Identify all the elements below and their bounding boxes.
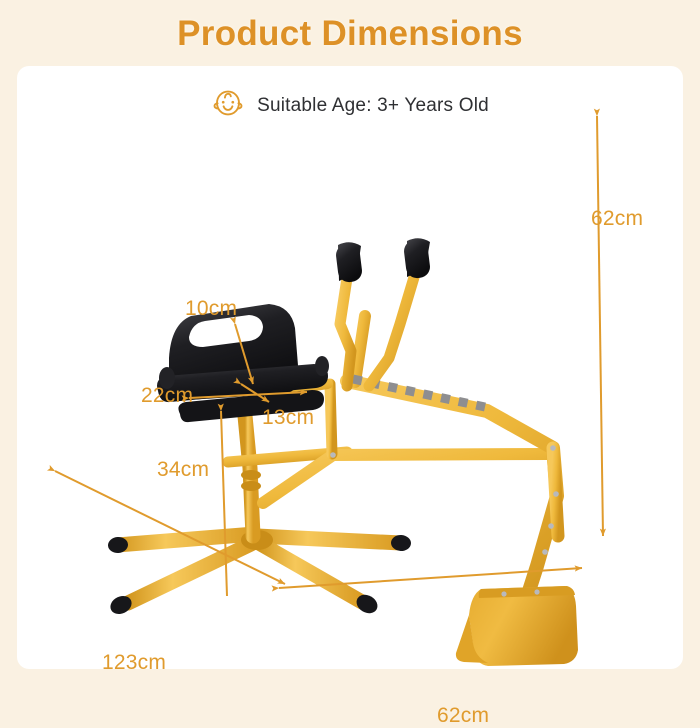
dimension-label-seat-width: 22cm (141, 384, 193, 408)
dimension-label-overall-width: 62cm (437, 704, 489, 728)
dimension-label-overall-height: 62cm (591, 207, 643, 231)
dimension-label-seat-height: 34cm (157, 458, 209, 482)
handle-grips (335, 238, 431, 283)
dual-handlebars (335, 238, 431, 386)
dimension-label-overall-depth: 123cm (102, 651, 166, 675)
dimension-label-seat-back-height: 10cm (185, 297, 237, 321)
product-dimensions-infographic: Product Dimensions Suitable Age (0, 0, 700, 700)
bucket-scoop (456, 586, 578, 666)
product-drawing (107, 238, 578, 666)
dimension-label-seat-depth: 13cm (262, 406, 314, 430)
seat-post (241, 416, 261, 536)
product-illustration (17, 66, 683, 669)
content-card: Suitable Age: 3+ Years Old (17, 66, 683, 669)
four-leg-star-base (107, 530, 411, 617)
page-title: Product Dimensions (0, 14, 700, 54)
dimension-lines (55, 116, 603, 596)
